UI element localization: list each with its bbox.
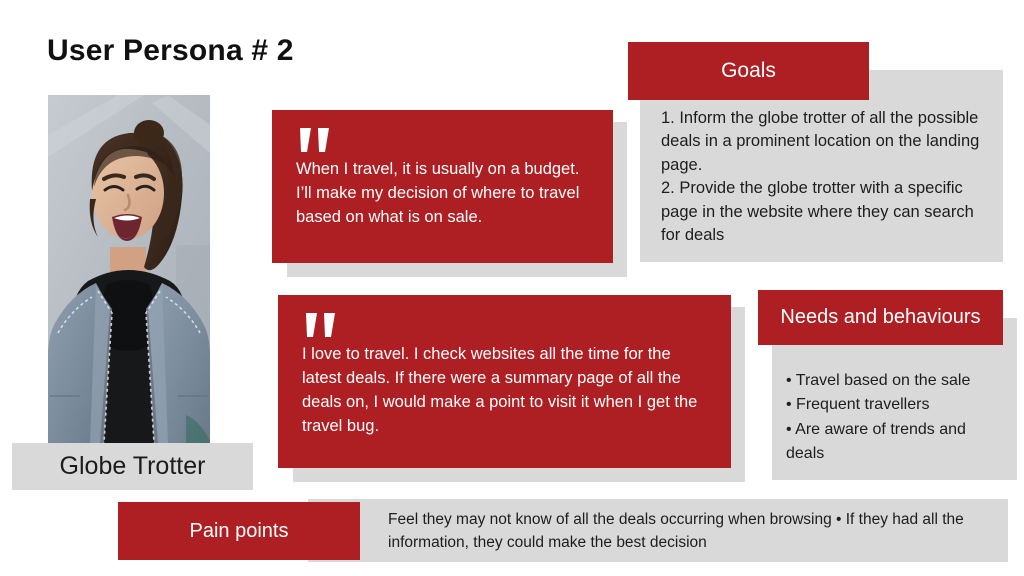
- goals-header: Goals: [628, 42, 869, 100]
- quote-card-1-text: When I travel, it is usually on a budget…: [296, 158, 591, 230]
- persona-name-band: Globe Trotter: [12, 443, 253, 490]
- persona-name: Globe Trotter: [60, 452, 206, 481]
- needs-item: • Are aware of trends and deals: [786, 418, 1004, 467]
- goals-item: 1. Inform the globe trotter of all the p…: [661, 107, 983, 177]
- goals-body: 1. Inform the globe trotter of all the p…: [661, 107, 983, 248]
- page-title: User Persona # 2: [47, 34, 294, 68]
- pain-points-header: Pain points: [118, 502, 360, 560]
- persona-slide: User Persona # 2: [0, 0, 1024, 576]
- goals-heading: Goals: [721, 59, 776, 83]
- pain-points-heading: Pain points: [190, 520, 289, 543]
- needs-header: Needs and behaviours: [758, 290, 1003, 345]
- pain-points-text: Feel they may not know of all the deals …: [388, 508, 988, 555]
- quote-card-2: I love to travel. I check websites all t…: [278, 295, 731, 468]
- quote-card-1: When I travel, it is usually on a budget…: [272, 110, 613, 263]
- needs-item: • Frequent travellers: [786, 393, 1004, 417]
- persona-photo: [48, 95, 210, 443]
- needs-heading: Needs and behaviours: [780, 306, 980, 329]
- quote-card-2-text: I love to travel. I check websites all t…: [302, 343, 709, 439]
- needs-body: • Travel based on the sale • Frequent tr…: [786, 369, 1004, 466]
- persona-photo-illustration: [48, 95, 210, 443]
- quote-mark-icon: [296, 126, 342, 156]
- needs-item: • Travel based on the sale: [786, 369, 1004, 393]
- goals-item: 2. Provide the globe trotter with a spec…: [661, 177, 983, 247]
- quote-mark-icon: [302, 311, 348, 341]
